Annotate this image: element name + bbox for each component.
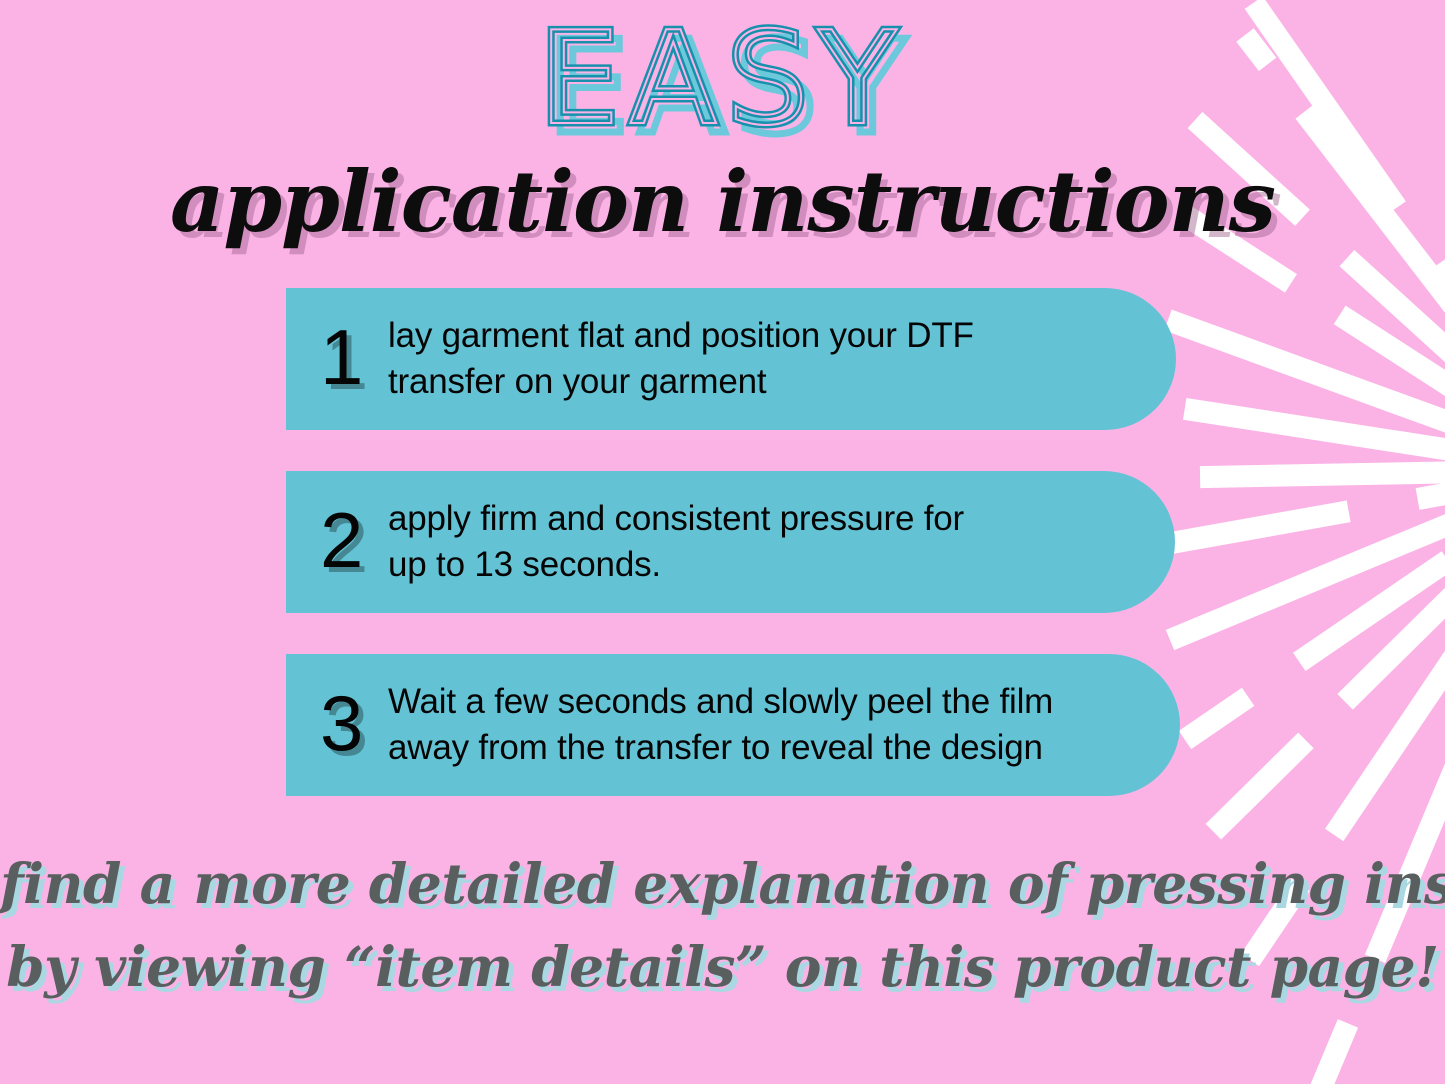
page-title-text: application instructions <box>0 160 1445 244</box>
step-text-3-line-2: away from the transfer to reveal the des… <box>388 725 1140 771</box>
step-number-3: 3 <box>320 684 382 762</box>
step-text-1-line-2: transfer on your garment <box>388 359 1136 405</box>
footer-note-line-1: find a more detailed explanation of pres… <box>0 856 1445 911</box>
page-title: application instructions <box>0 160 1445 270</box>
step-text-2: apply firm and consistent pressure for u… <box>388 496 1135 588</box>
steps-list: 1 lay garment flat and position your DTF… <box>286 288 1186 796</box>
application-instructions-poster: EASY EASY EASY application instructions … <box>0 0 1445 1084</box>
footer-note: find a more detailed explanation of pres… <box>0 856 1445 994</box>
headline-easy: EASY EASY EASY <box>0 16 1445 166</box>
step-text-1-line-1: lay garment flat and position your DTF <box>388 313 1136 359</box>
step-text-3-line-1: Wait a few seconds and slowly peel the f… <box>388 679 1140 725</box>
step-text-3: Wait a few seconds and slowly peel the f… <box>388 679 1140 771</box>
step-text-1: lay garment flat and position your DTF t… <box>388 313 1136 405</box>
step-number-1: 1 <box>320 318 382 396</box>
step-text-2-line-2: up to 13 seconds. <box>388 542 1135 588</box>
footer-note-line-2: by viewing “item details” on this produc… <box>0 939 1445 994</box>
step-number-2: 2 <box>320 501 382 579</box>
step-item-2: 2 apply firm and consistent pressure for… <box>286 471 1175 613</box>
headline-easy-inner-cut: EASY <box>0 16 1445 144</box>
step-text-2-line-1: apply firm and consistent pressure for <box>388 496 1135 542</box>
step-item-3: 3 Wait a few seconds and slowly peel the… <box>286 654 1180 796</box>
step-item-1: 1 lay garment flat and position your DTF… <box>286 288 1176 430</box>
